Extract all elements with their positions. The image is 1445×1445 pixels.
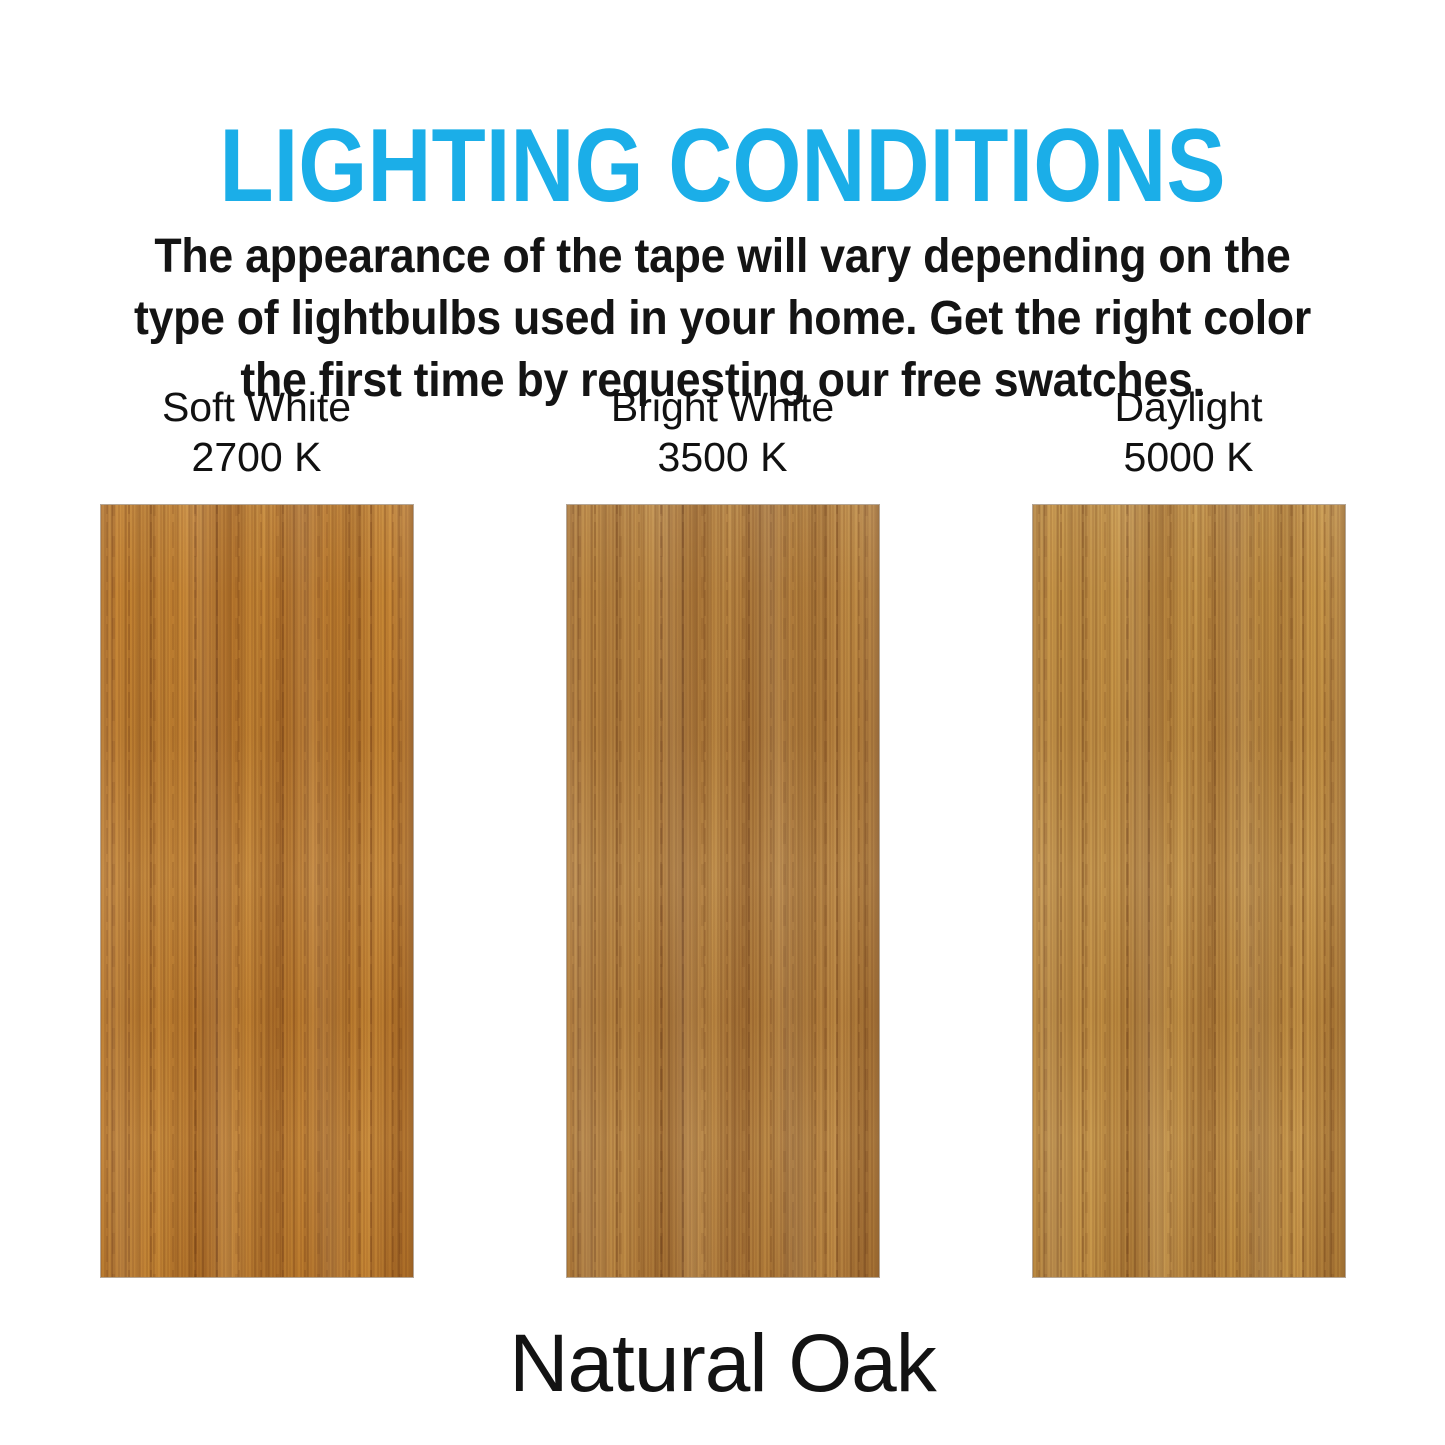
page-title: LIGHTING CONDITIONS	[106, 114, 1340, 218]
lighting-kelvin-bright-white: 3500 K	[658, 432, 788, 482]
lighting-label-soft-white: Soft White	[162, 382, 351, 432]
lighting-column-daylight: Daylight 5000 K	[1033, 382, 1345, 1277]
product-name-caption: Natural Oak	[0, 1316, 1445, 1412]
wood-grain-streaks-icon	[101, 505, 413, 1277]
wood-grain-streaks-icon	[567, 505, 879, 1277]
lighting-label-bright-white: Bright White	[611, 382, 834, 432]
lighting-column-bright-white: Bright White 3500 K	[567, 382, 879, 1277]
wood-swatch-soft-white	[101, 505, 413, 1277]
lighting-comparison-row: Soft White 2700 K Bright White 3500 K	[0, 382, 1445, 1282]
lighting-kelvin-daylight: 5000 K	[1124, 432, 1254, 482]
wood-swatch-daylight	[1033, 505, 1345, 1277]
lighting-conditions-infographic: LIGHTING CONDITIONS The appearance of th…	[0, 0, 1445, 1445]
wood-swatch-bright-white	[567, 505, 879, 1277]
wood-grain-streaks-icon	[1033, 505, 1345, 1277]
lighting-column-soft-white: Soft White 2700 K	[101, 382, 413, 1277]
lighting-kelvin-soft-white: 2700 K	[192, 432, 322, 482]
lighting-label-daylight: Daylight	[1114, 382, 1262, 432]
